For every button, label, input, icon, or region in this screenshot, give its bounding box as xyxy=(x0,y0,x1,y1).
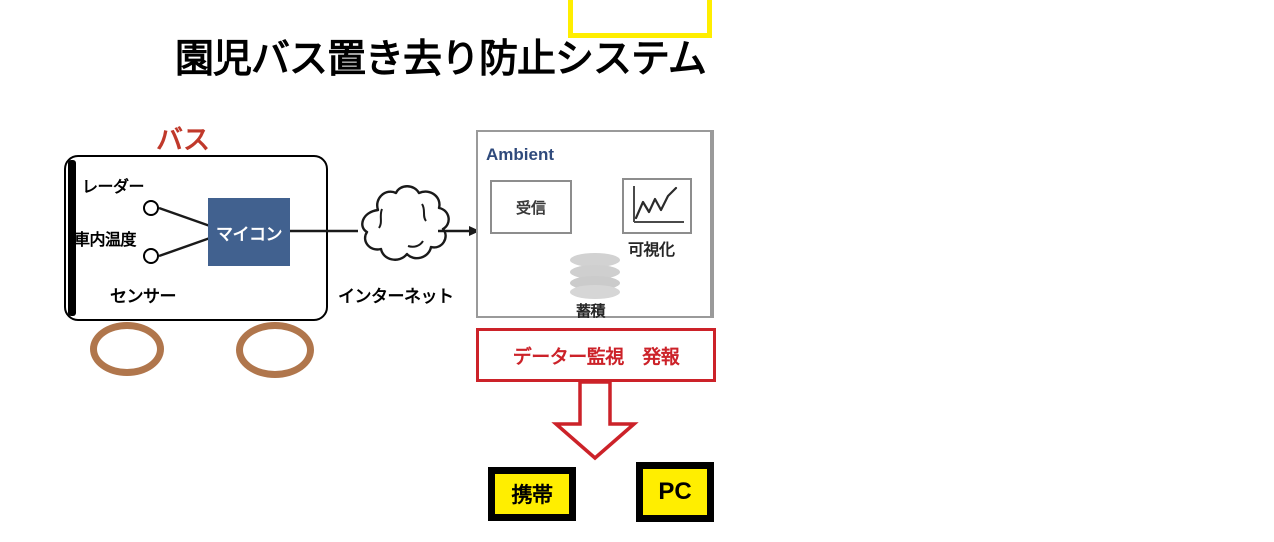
data-monitoring-alert-box: データー監視 発報 xyxy=(476,328,716,382)
mobile-device-box: 携帯 xyxy=(488,467,576,521)
ambient-title: Ambient xyxy=(486,145,554,165)
bus-label: バス xyxy=(156,118,210,157)
microcontroller-box: マイコン xyxy=(208,198,290,266)
storage-label: 蓄積 xyxy=(576,300,605,321)
empty-yellow-rectangle xyxy=(568,0,712,38)
diagram-canvas: 園児バス置き去り防止システム バス レーダー 車内温度 センサー マイコン イン… xyxy=(0,0,1274,542)
data-monitoring-alert-label: データー監視 発報 xyxy=(513,342,680,369)
page-title: 園児バス置き去り防止システム xyxy=(175,38,735,82)
receive-box: 受信 xyxy=(490,180,572,234)
visualization-chart-icon xyxy=(622,178,692,234)
visualization-label: 可視化 xyxy=(628,236,675,260)
database-icon xyxy=(566,252,624,300)
cabin-temperature-sensor-label: 車内温度 xyxy=(74,226,136,250)
mcu-to-cloud-line xyxy=(290,228,360,234)
red-down-arrow xyxy=(548,382,642,460)
radar-sensor-label: レーダー xyxy=(82,173,144,197)
internet-label: インターネット xyxy=(338,282,454,307)
sensor-group-label: センサー xyxy=(110,282,176,307)
front-wheel xyxy=(90,322,164,376)
rear-wheel xyxy=(236,322,314,378)
pc-device-box: PC xyxy=(636,462,714,522)
